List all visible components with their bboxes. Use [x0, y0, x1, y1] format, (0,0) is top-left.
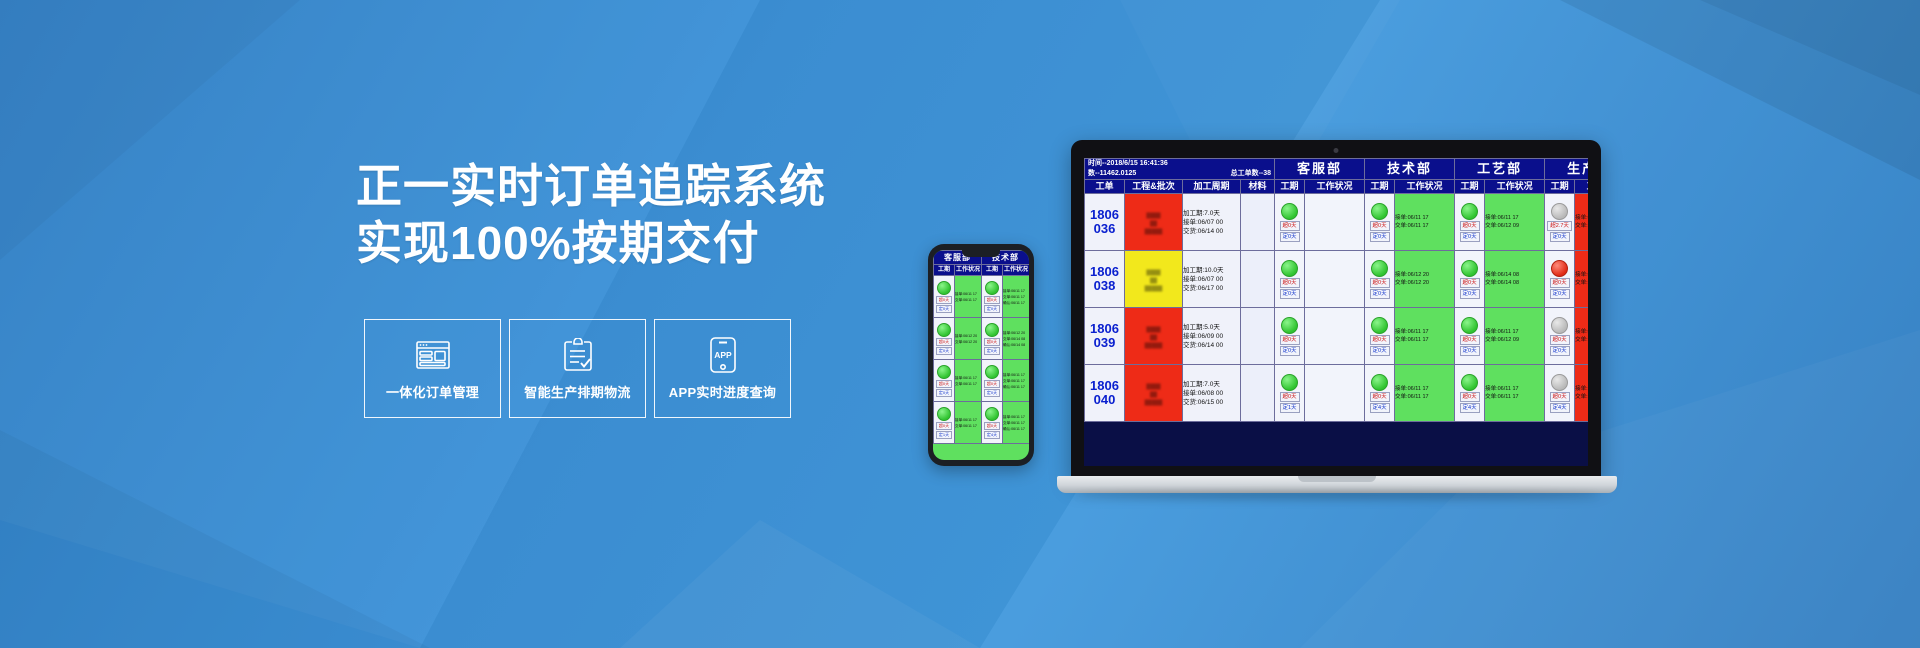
- status-dot-green[interactable]: [1461, 260, 1478, 277]
- phone-table-row[interactable]: 超0天定0天接单:06/12 20交单:06/12 20超0天定0天接单:06/…: [934, 318, 1030, 360]
- cycle-line: 接单:06/07 00: [1183, 275, 1240, 284]
- status-line: 交单:06/12 09: [1485, 222, 1544, 231]
- cell-project-batch[interactable]: ███████████: [1125, 251, 1183, 308]
- phone-column-header-技术部-工期[interactable]: 工期: [982, 265, 1003, 276]
- duration-inner: 超0天定0天: [1275, 203, 1304, 242]
- tag-overdue: 超0天: [936, 422, 952, 430]
- phone-table-row[interactable]: 超0天定0天接单:06/11 17交单:06/11 17超0天定0天接单:06/…: [934, 276, 1030, 318]
- status-line: 确认:06/11 17: [1003, 384, 1029, 390]
- phone-duration-inner: 超0天定1天: [934, 407, 954, 439]
- status-line: 交单:06/14 08: [1485, 279, 1544, 288]
- duration-inner: 超0天定1天: [1275, 374, 1304, 413]
- duration-inner: 超2.7天定0天: [1545, 203, 1574, 242]
- cell-duration-技术部[interactable]: 超0天定0天: [1365, 251, 1395, 308]
- phone-body: 客服部技术部工期工作状况工期工作状况 超0天定0天接单:06/11 17交单:0…: [928, 244, 1034, 466]
- tag-overdue: 超0天: [1460, 221, 1480, 231]
- tag-scheduled: 定0天: [1550, 289, 1570, 299]
- column-header-生产部-工作状况[interactable]: 工作状况: [1575, 180, 1588, 194]
- status-dot-green[interactable]: [937, 281, 951, 295]
- status-dot-green[interactable]: [1281, 374, 1298, 391]
- duration-inner: 超0天定0天: [1455, 317, 1484, 356]
- phone-cell-duration-客服部[interactable]: 超0天定0天: [934, 276, 955, 318]
- tag-scheduled: 定4天: [1370, 403, 1390, 413]
- tag-overdue: 超0天: [984, 422, 1000, 430]
- work-order-part: 1806: [1085, 322, 1124, 336]
- duration-inner: 超0天定0天: [1365, 203, 1394, 242]
- phone-cell-status-技术部[interactable]: 接单:06/12 20交单:06/14 08确认:06/14 08: [1003, 318, 1030, 360]
- phone-mockup: 客服部技术部工期工作状况工期工作状况 超0天定0天接单:06/11 17交单:0…: [928, 244, 1034, 466]
- cell-project-batch[interactable]: ███████████: [1125, 194, 1183, 251]
- status-line: 接单:06/11 17: [1485, 214, 1544, 223]
- tag-overdue: 超0天: [1460, 278, 1480, 288]
- clipboard-checklist-icon: [563, 336, 593, 374]
- tag-overdue: 超0天: [1460, 392, 1480, 402]
- dept-header-2[interactable]: 技术部: [1365, 159, 1455, 180]
- tag-overdue: 超0天: [936, 296, 952, 304]
- duration-inner: 超0天定4天: [1365, 374, 1394, 413]
- tag-overdue: 超0天: [1550, 392, 1570, 402]
- cycle-line: 交货:06/14 00: [1183, 341, 1240, 350]
- status-line: 接单:06/12 20: [955, 333, 981, 339]
- tag-overdue: 超0天: [984, 338, 1000, 346]
- tag-overdue: 超0天: [1280, 278, 1300, 288]
- cell-status-工艺部[interactable]: 接单:06/14 08交单:06/14 08: [1485, 251, 1545, 308]
- tag-scheduled: 定4天: [984, 431, 1000, 439]
- project-batch-redacted: ███████████: [1125, 322, 1182, 350]
- cell-duration-客服部[interactable]: 超0天定1天: [1275, 365, 1305, 422]
- status-line: 交单:: [1575, 393, 1588, 402]
- cycle-line: 交货:06/17 00: [1183, 284, 1240, 293]
- tag-overdue: 超0天: [1280, 221, 1300, 231]
- cell-status-客服部[interactable]: [1305, 251, 1365, 308]
- phone-duration-inner: 超0天定0天: [934, 323, 954, 355]
- feature-card-smart-scheduling[interactable]: 智能生产排期物流: [509, 319, 646, 418]
- tag-overdue: 超2.7天: [1547, 221, 1572, 231]
- status-line: 交单:06/12 20: [1395, 279, 1454, 288]
- cell-status-工艺部[interactable]: 接单:06/11 17交单:06/12 09: [1485, 308, 1545, 365]
- phone-header-row-columns: 工期工作状况工期工作状况: [934, 265, 1030, 276]
- tag-scheduled: 定1天: [1280, 403, 1300, 413]
- status-dot-green[interactable]: [1371, 317, 1388, 334]
- cell-status-客服部[interactable]: [1305, 194, 1365, 251]
- phone-duration-inner: 超0天定0天: [982, 323, 1002, 355]
- status-dot-green[interactable]: [1371, 374, 1388, 391]
- cell-duration-生产部[interactable]: 超2.7天定0天: [1545, 194, 1575, 251]
- status-dot-green[interactable]: [985, 281, 999, 295]
- status-line: 接单:06/11 17: [1395, 385, 1454, 394]
- tag-overdue: 超0天: [1550, 278, 1570, 288]
- table-row[interactable]: 1806036███████████加工期:7.0天接单:06/07 00交货:…: [1085, 194, 1589, 251]
- tag-overdue: 超0天: [936, 338, 952, 346]
- feature-list: 一体化订单管理 智能生产排期物流 APP APP实时进度查询: [364, 319, 791, 418]
- erp-table-head: 时间--2018/6/15 16:41:36数--11462.0125总工单数-…: [1085, 159, 1589, 194]
- phone-duration-inner: 超0天定0天: [982, 365, 1002, 397]
- tag-overdue: 超0天: [984, 380, 1000, 388]
- erp-info-time: 时间--2018/6/15 16:41:36: [1085, 159, 1274, 169]
- column-header-技术部-工作状况[interactable]: 工作状况: [1395, 180, 1455, 194]
- table-row[interactable]: 1806040███████████加工期:7.0天接单:06/08 00交货:…: [1085, 365, 1589, 422]
- cell-status-技术部[interactable]: 接单:06/11 17交单:06/11 17: [1395, 308, 1455, 365]
- status-dot-green[interactable]: [937, 407, 951, 421]
- cell-status-生产部[interactable]: 接单:交单:: [1575, 365, 1588, 422]
- status-dot-gray[interactable]: [1551, 317, 1568, 334]
- phone-duration-inner: 超0天定0天: [934, 281, 954, 313]
- dept-header-3[interactable]: 工艺部: [1455, 159, 1545, 180]
- phone-cell-status-客服部[interactable]: 接单:06/11 17交单:06/11 17: [955, 360, 982, 402]
- phone-duration-inner: 超0天定0天: [934, 365, 954, 397]
- tag-overdue: 超0天: [1280, 392, 1300, 402]
- laptop-screen[interactable]: 时间--2018/6/15 16:41:36数--11462.0125总工单数-…: [1084, 158, 1588, 466]
- tag-scheduled: 定0天: [936, 347, 952, 355]
- cell-status-技术部[interactable]: 接单:06/12 20交单:06/12 20: [1395, 251, 1455, 308]
- tag-scheduled: 定0天: [1550, 232, 1570, 242]
- cell-duration-工艺部[interactable]: 超0天定0天: [1455, 194, 1485, 251]
- tag-scheduled: 定0天: [1280, 289, 1300, 299]
- tag-scheduled: 定0天: [1280, 232, 1300, 242]
- cycle-line: 加工期:7.0天: [1183, 209, 1240, 218]
- status-line: 确认:06/11 17: [1003, 300, 1029, 306]
- work-order-part: 1806: [1085, 208, 1124, 222]
- dept-header-4[interactable]: 生产部: [1545, 159, 1588, 180]
- column-header-3[interactable]: 加工周期: [1183, 180, 1241, 194]
- cell-status-客服部[interactable]: [1305, 308, 1365, 365]
- cell-duration-客服部[interactable]: 超0天定0天: [1275, 194, 1305, 251]
- tag-scheduled: 定1天: [936, 431, 952, 439]
- duration-inner: 超0天定0天: [1365, 260, 1394, 299]
- work-order-part: 038: [1085, 279, 1124, 293]
- cycle-line: 加工期:5.0天: [1183, 323, 1240, 332]
- tag-scheduled: 定0天: [1370, 289, 1390, 299]
- status-line: 交单:06/11 17: [955, 297, 981, 303]
- phone-cell-status-客服部[interactable]: 接单:06/12 20交单:06/12 20: [955, 318, 982, 360]
- tag-overdue: 超0天: [1550, 335, 1570, 345]
- status-dot-green[interactable]: [1281, 203, 1298, 220]
- cycle-line: 加工期:7.0天: [1183, 380, 1240, 389]
- phone-cell-duration-客服部[interactable]: 超0天定0天: [934, 360, 955, 402]
- phone-column-header-客服部-工期[interactable]: 工期: [934, 265, 955, 276]
- phone-duration-inner: 超0天定0天: [982, 281, 1002, 313]
- status-line: 交单:06/11 17: [955, 381, 981, 387]
- cell-work-order[interactable]: 1806039: [1085, 308, 1125, 365]
- cell-processing-cycle[interactable]: 加工期:7.0天接单:06/08 00交货:06/15 00: [1183, 365, 1241, 422]
- cell-duration-技术部[interactable]: 超0天定0天: [1365, 308, 1395, 365]
- phone-cell-status-技术部[interactable]: 接单:06/11 17交单:06/11 17确认:06/11 17: [1003, 276, 1030, 318]
- tag-overdue: 超0天: [1280, 335, 1300, 345]
- tag-scheduled: 定0天: [984, 389, 1000, 397]
- status-line: 接单:06/11 17: [1395, 328, 1454, 337]
- cell-status-生产部[interactable]: 接单:06/12 09交单:: [1575, 194, 1588, 251]
- duration-inner: 超0天定0天: [1275, 317, 1304, 356]
- laptop-mockup: 时间--2018/6/15 16:41:36数--11462.0125总工单数-…: [1057, 140, 1617, 500]
- phone-column-header-技术部-工作状况[interactable]: 工作状况: [1003, 265, 1030, 276]
- cycle-line: 加工期:10.0天: [1183, 266, 1240, 275]
- status-dot-green[interactable]: [1281, 317, 1298, 334]
- tag-scheduled: 定0天: [984, 305, 1000, 313]
- dept-header-1[interactable]: 客服部: [1275, 159, 1365, 180]
- phone-cell-status-技术部[interactable]: 接单:06/11 17交单:06/11 17确认:06/11 17: [1003, 360, 1030, 402]
- status-line: 接单:06/11 17: [1485, 385, 1544, 394]
- erp-info-total: 总工单数--38: [1231, 169, 1271, 179]
- tag-overdue: 超0天: [1370, 221, 1390, 231]
- work-order-part: 1806: [1085, 379, 1124, 393]
- tag-scheduled: 定0天: [936, 305, 952, 313]
- cell-status-工艺部[interactable]: 接单:06/11 17交单:06/11 17: [1485, 365, 1545, 422]
- duration-inner: 超0天定0天: [1545, 260, 1574, 299]
- column-header-4[interactable]: 材料: [1241, 180, 1275, 194]
- webcam-icon: [1334, 148, 1339, 153]
- cell-work-order[interactable]: 1806036: [1085, 194, 1125, 251]
- cell-duration-客服部[interactable]: 超0天定0天: [1275, 251, 1305, 308]
- cell-duration-客服部[interactable]: 超0天定0天: [1275, 308, 1305, 365]
- status-line: 交单:06/11 17: [955, 423, 981, 429]
- feature-card-app-tracking[interactable]: APP APP实时进度查询: [654, 319, 791, 418]
- phone-erp-table[interactable]: 客服部技术部工期工作状况工期工作状况 超0天定0天接单:06/11 17交单:0…: [933, 250, 1029, 444]
- phone-duration-inner: 超0天定4天: [982, 407, 1002, 439]
- status-line: 交单:: [1575, 222, 1588, 231]
- phone-screen[interactable]: 客服部技术部工期工作状况工期工作状况 超0天定0天接单:06/11 17交单:0…: [933, 250, 1029, 460]
- erp-header-row-columns: 工单工程&批次加工周期材料工期工作状况工期工作状况工期工作状况工期工作状况工期工…: [1085, 180, 1589, 194]
- work-order-part: 039: [1085, 336, 1124, 350]
- project-batch-redacted: ███████████: [1125, 265, 1182, 293]
- phone-cell-duration-客服部[interactable]: 超0天定1天: [934, 402, 955, 444]
- tag-scheduled: 定0天: [1460, 346, 1480, 356]
- status-line: 确认:06/14 08: [1003, 342, 1029, 348]
- duration-inner: 超0天定0天: [1455, 203, 1484, 242]
- status-dot-green[interactable]: [1371, 203, 1388, 220]
- page-title-line2: 实现100%按期交付: [356, 215, 876, 272]
- tag-overdue: 超0天: [1370, 392, 1390, 402]
- cycle-line: 接单:06/08 00: [1183, 389, 1240, 398]
- status-dot-gray[interactable]: [1551, 374, 1568, 391]
- duration-inner: 超0天定4天: [1455, 374, 1484, 413]
- laptop-lid: 时间--2018/6/15 16:41:36数--11462.0125总工单数-…: [1071, 140, 1601, 480]
- status-line: 接单:: [1575, 385, 1588, 394]
- column-header-客服部-工作状况[interactable]: 工作状况: [1305, 180, 1365, 194]
- status-dot-green[interactable]: [1461, 374, 1478, 391]
- erp-info-counts: 数--11462.0125总工单数--38: [1085, 169, 1274, 179]
- tag-overdue: 超0天: [984, 296, 1000, 304]
- status-line: 接单:06/12 09: [1575, 328, 1588, 337]
- cycle-line: 接单:06/09 00: [1183, 332, 1240, 341]
- status-line: 交单:: [1575, 279, 1588, 288]
- tag-overdue: 超0天: [1370, 335, 1390, 345]
- tag-overdue: 超0天: [1370, 278, 1390, 288]
- cell-processing-cycle[interactable]: 加工期:5.0天接单:06/09 00交货:06/14 00: [1183, 308, 1241, 365]
- cell-processing-cycle[interactable]: 加工期:10.0天接单:06/07 00交货:06/17 00: [1183, 251, 1241, 308]
- project-batch-redacted: ███████████: [1125, 208, 1182, 236]
- status-line: 接单:06/11 17: [1395, 214, 1454, 223]
- tag-scheduled: 定0天: [1370, 346, 1390, 356]
- cell-work-order[interactable]: 1806040: [1085, 365, 1125, 422]
- phone-cell-duration-客服部[interactable]: 超0天定0天: [934, 318, 955, 360]
- feature-label: 一体化订单管理: [386, 382, 479, 401]
- cell-status-客服部[interactable]: [1305, 365, 1365, 422]
- phone-cell-status-客服部[interactable]: 接单:06/11 17交单:06/11 17: [955, 276, 982, 318]
- status-line: 交单:06/11 17: [1395, 336, 1454, 345]
- cycle-line: 交货:06/14 00: [1183, 227, 1240, 236]
- status-line: 交单:: [1575, 336, 1588, 345]
- page-title-line1: 正一实时订单追踪系统: [356, 158, 876, 215]
- tag-scheduled: 定0天: [1280, 346, 1300, 356]
- duration-inner: 超0天定0天: [1275, 260, 1304, 299]
- cell-project-batch[interactable]: ███████████: [1125, 365, 1183, 422]
- tag-scheduled: 定0天: [984, 347, 1000, 355]
- cell-duration-工艺部[interactable]: 超0天定0天: [1455, 308, 1485, 365]
- status-line: 交单:06/11 17: [1395, 393, 1454, 402]
- tag-scheduled: 定0天: [1550, 346, 1570, 356]
- status-line: 接单:06/12 20: [1003, 330, 1029, 336]
- tag-scheduled: 定0天: [936, 389, 952, 397]
- cell-duration-技术部[interactable]: 超0天定0天: [1365, 194, 1395, 251]
- phone-cell-duration-技术部[interactable]: 超0天定0天: [982, 318, 1003, 360]
- cell-work-order[interactable]: 1806038: [1085, 251, 1125, 308]
- duration-inner: 超0天定4天: [1545, 374, 1574, 413]
- project-batch-redacted: ███████████: [1125, 379, 1182, 407]
- cell-status-生产部[interactable]: 接单:06/12 09交单:: [1575, 308, 1588, 365]
- column-header-生产部-工期[interactable]: 工期: [1545, 180, 1575, 194]
- cell-material[interactable]: [1241, 308, 1275, 365]
- erp-info-panel: 时间--2018/6/15 16:41:36数--11462.0125总工单数-…: [1085, 159, 1275, 180]
- column-header-工艺部-工作状况[interactable]: 工作状况: [1485, 180, 1545, 194]
- tag-scheduled: 定0天: [1460, 232, 1480, 242]
- status-dot-green[interactable]: [985, 365, 999, 379]
- phone-cell-duration-技术部[interactable]: 超0天定0天: [982, 360, 1003, 402]
- status-dot-green[interactable]: [1281, 260, 1298, 277]
- status-dot-green[interactable]: [937, 365, 951, 379]
- tag-scheduled: 定0天: [1370, 232, 1390, 242]
- phone-table-row[interactable]: 超0天定1天接单:06/11 17交单:06/11 17超0天定4天接单:06/…: [934, 402, 1030, 444]
- status-line: 接单:06/12 09: [1575, 214, 1588, 223]
- cycle-line: 交货:06/15 00: [1183, 398, 1240, 407]
- cell-duration-生产部[interactable]: 超0天定4天: [1545, 365, 1575, 422]
- cycle-line: 接单:06/07 00: [1183, 218, 1240, 227]
- work-order-part: 1806: [1085, 265, 1124, 279]
- tag-overdue: 超0天: [936, 380, 952, 388]
- status-line: 接单:06/14 08: [1485, 271, 1544, 280]
- table-row[interactable]: 1806038███████████加工期:10.0天接单:06/07 00交货…: [1085, 251, 1589, 308]
- mobile-app-icon: APP: [710, 336, 736, 374]
- laptop-base-notch: [1298, 476, 1376, 482]
- column-header-技术部-工期[interactable]: 工期: [1365, 180, 1395, 194]
- duration-inner: 超0天定0天: [1365, 317, 1394, 356]
- feature-label: 智能生产排期物流: [524, 382, 630, 401]
- status-dot-red[interactable]: [1551, 260, 1568, 277]
- feature-card-order-management[interactable]: 一体化订单管理: [364, 319, 501, 418]
- tag-scheduled: 定4天: [1550, 403, 1570, 413]
- table-row[interactable]: 1806039███████████加工期:5.0天接单:06/09 00交货:…: [1085, 308, 1589, 365]
- cell-duration-工艺部[interactable]: 超0天定0天: [1455, 251, 1485, 308]
- status-dot-green[interactable]: [937, 323, 951, 337]
- phone-cell-status-技术部[interactable]: 接单:06/11 17交单:06/11 17确认:06/11 17: [1003, 402, 1030, 444]
- status-dot-gray[interactable]: [1551, 203, 1568, 220]
- status-dot-green[interactable]: [985, 407, 999, 421]
- status-line: 交单:06/14 08: [1003, 336, 1029, 342]
- erp-info-count: 数--11462.0125: [1088, 169, 1136, 179]
- laptop-shadow: [1077, 492, 1597, 499]
- status-line: 接单:06/11 17: [1485, 328, 1544, 337]
- window-layout-icon: [416, 336, 450, 374]
- work-order-part: 036: [1085, 222, 1124, 236]
- phone-table-body[interactable]: 超0天定0天接单:06/11 17交单:06/11 17超0天定0天接单:06/…: [934, 276, 1030, 444]
- cell-processing-cycle[interactable]: 加工期:7.0天接单:06/07 00交货:06/14 00: [1183, 194, 1241, 251]
- tag-scheduled: 定4天: [1460, 403, 1480, 413]
- column-header-客服部-工期[interactable]: 工期: [1275, 180, 1305, 194]
- cell-duration-生产部[interactable]: 超0天定0天: [1545, 251, 1575, 308]
- column-header-工艺部-工期[interactable]: 工期: [1455, 180, 1485, 194]
- status-line: 交单:06/12 09: [1485, 336, 1544, 345]
- phone-cell-duration-技术部[interactable]: 超0天定4天: [982, 402, 1003, 444]
- feature-label: APP实时进度查询: [669, 382, 776, 401]
- phone-cell-duration-技术部[interactable]: 超0天定0天: [982, 276, 1003, 318]
- column-header-1[interactable]: 工单: [1085, 180, 1125, 194]
- status-line: 交单:06/11 17: [1485, 393, 1544, 402]
- status-line: 确认:06/11 17: [1003, 426, 1029, 432]
- cell-status-工艺部[interactable]: 接单:06/11 17交单:06/12 09: [1485, 194, 1545, 251]
- duration-inner: 超0天定0天: [1545, 317, 1574, 356]
- status-dot-green[interactable]: [1371, 260, 1388, 277]
- hero-copy: 正一实时订单追踪系统 实现100%按期交付: [356, 158, 876, 272]
- cell-material[interactable]: [1241, 194, 1275, 251]
- cell-status-技术部[interactable]: 接单:06/11 17交单:06/11 17: [1395, 365, 1455, 422]
- phone-notch: [962, 250, 1000, 257]
- status-line: 交单:06/11 17: [1395, 222, 1454, 231]
- tag-scheduled: 定0天: [1460, 289, 1480, 299]
- phone-table-row[interactable]: 超0天定0天接单:06/11 17交单:06/11 17超0天定0天接单:06/…: [934, 360, 1030, 402]
- cell-status-技术部[interactable]: 接单:06/11 17交单:06/11 17: [1395, 194, 1455, 251]
- cell-material[interactable]: [1241, 365, 1275, 422]
- mobile-app-icon-text: APP: [714, 350, 732, 360]
- column-header-2[interactable]: 工程&批次: [1125, 180, 1183, 194]
- status-dot-green[interactable]: [1461, 317, 1478, 334]
- work-order-part: 040: [1085, 393, 1124, 407]
- cell-duration-生产部[interactable]: 超0天定0天: [1545, 308, 1575, 365]
- status-line: 接单:06/12 20: [1395, 271, 1454, 280]
- status-line: 接单:06/15 16: [1575, 271, 1588, 280]
- phone-column-header-客服部-工作状况[interactable]: 工作状况: [955, 265, 982, 276]
- cell-project-batch[interactable]: ███████████: [1125, 308, 1183, 365]
- erp-table-body[interactable]: 1806036███████████加工期:7.0天接单:06/07 00交货:…: [1085, 194, 1589, 422]
- status-line: 交单:06/12 20: [955, 339, 981, 345]
- cell-material[interactable]: [1241, 251, 1275, 308]
- cell-status-生产部[interactable]: 接单:06/15 16交单:: [1575, 251, 1588, 308]
- cell-duration-工艺部[interactable]: 超0天定4天: [1455, 365, 1485, 422]
- tag-overdue: 超0天: [1460, 335, 1480, 345]
- duration-inner: 超0天定0天: [1455, 260, 1484, 299]
- status-dot-green[interactable]: [1461, 203, 1478, 220]
- cell-duration-技术部[interactable]: 超0天定4天: [1365, 365, 1395, 422]
- erp-order-tracking-table[interactable]: 时间--2018/6/15 16:41:36数--11462.0125总工单数-…: [1084, 158, 1588, 422]
- phone-cell-status-客服部[interactable]: 接单:06/11 17交单:06/11 17: [955, 402, 982, 444]
- erp-header-row-departments: 时间--2018/6/15 16:41:36数--11462.0125总工单数-…: [1085, 159, 1589, 180]
- status-dot-green[interactable]: [985, 323, 999, 337]
